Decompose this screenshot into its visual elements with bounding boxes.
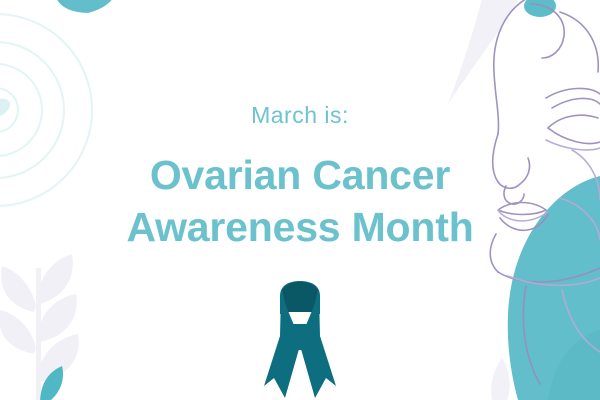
poster-content: March is: Ovarian Cancer Awareness Month [0, 0, 600, 400]
headline-line-2: Awareness Month [126, 201, 473, 253]
ribbon-loop-shade [282, 282, 318, 314]
awareness-poster: March is: Ovarian Cancer Awareness Month [0, 0, 600, 400]
awareness-ribbon-icon [252, 280, 348, 400]
headline-line-1: Ovarian Cancer [126, 149, 473, 201]
ribbon-crossover [286, 324, 314, 350]
page-title: Ovarian Cancer Awareness Month [126, 149, 473, 254]
eyebrow-text: March is: [251, 104, 349, 127]
